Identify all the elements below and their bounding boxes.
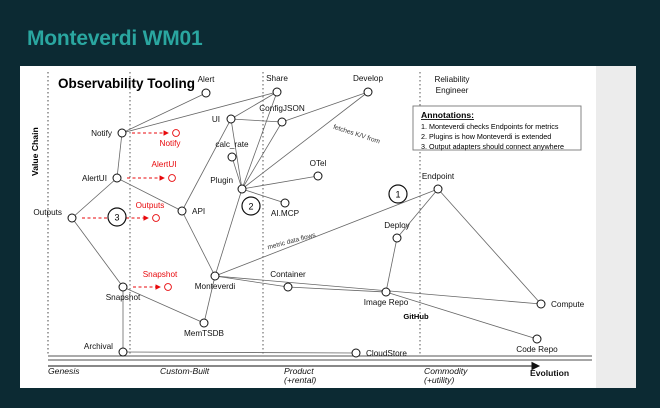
node-snapshot[interactable]: [119, 283, 127, 291]
annotation-item-1: 1. Monteverdi checks Endpoints for metri…: [421, 122, 559, 131]
link-label-0: fetches K/V from: [332, 124, 381, 146]
annotation-item-3: 3. Output adapters should connect anywhe…: [421, 142, 564, 151]
node-configjson[interactable]: [278, 118, 286, 126]
node-calc_rate[interactable]: [228, 153, 236, 161]
evolved-node-label-snapshot: Snapshot: [143, 270, 178, 279]
annotation-item-2: 2. Plugins is how Monteverdi is extended: [421, 132, 551, 141]
node-label-calc_rate: calc_rate: [215, 140, 249, 149]
node-label-deploy: Deploy: [384, 221, 410, 230]
anchor-label-line1: Reliability: [434, 75, 470, 84]
node-endpoint[interactable]: [434, 185, 442, 193]
node-memtsdb[interactable]: [200, 319, 208, 327]
node-label-api: API: [192, 207, 205, 216]
evolved-node-label-outputs: Outputs: [136, 201, 165, 210]
node-label-compute: Compute: [551, 300, 585, 309]
node-label-archival: Archival: [84, 342, 113, 351]
node-label-share: Share: [266, 74, 288, 83]
evolved-node-alertui[interactable]: [169, 175, 176, 182]
link-ui-api: [182, 119, 231, 211]
evolved-node-snapshot[interactable]: [165, 284, 172, 291]
link-share-notify: [122, 92, 277, 133]
link-archival-cloudstore: [123, 352, 356, 353]
node-monteverdi[interactable]: [211, 272, 219, 280]
stage-label-1: Custom-Built: [160, 366, 210, 376]
map-annotations-box: Annotations:1. Monteverdi checks Endpoin…: [413, 106, 581, 151]
node-label-endpoint: Endpoint: [422, 172, 455, 181]
node-archival[interactable]: [119, 348, 127, 356]
node-outputs[interactable]: [68, 214, 76, 222]
node-compute[interactable]: [537, 300, 545, 308]
node-label-alertui: AlertUI: [82, 174, 107, 183]
node-label-develop: Develop: [353, 74, 383, 83]
stage-sublabel-2: (+rental): [284, 375, 316, 385]
link-plugin-otel: [242, 176, 318, 189]
pipeline-label-github: GitHub: [403, 312, 429, 321]
evolution-axis-label: Evolution: [530, 368, 569, 378]
node-label-ui: UI: [212, 115, 220, 124]
stage-sublabel-3: (+utility): [424, 375, 454, 385]
annotation-marker-number-3: 3: [114, 212, 119, 222]
node-label-imagerepo: Image Repo: [364, 298, 409, 307]
link-api-monteverdi: [182, 211, 215, 276]
node-label-notify: Notify: [91, 129, 113, 138]
annotation-marker-number-2: 2: [248, 201, 253, 211]
link-deploy-imagerepo: [386, 238, 397, 292]
node-api[interactable]: [178, 207, 186, 215]
node-ui[interactable]: [227, 115, 235, 123]
node-label-otel: OTel: [310, 159, 327, 168]
link-endpoint-compute: [438, 189, 541, 304]
node-share[interactable]: [273, 88, 281, 96]
node-deploy[interactable]: [393, 234, 401, 242]
evolved-node-label-notify: Notify: [160, 139, 182, 148]
node-label-plugin: Plugin: [210, 176, 233, 185]
map-evolution-arrows: NotifyAlertUIOutputsSnapshot: [82, 130, 181, 291]
node-imagerepo[interactable]: [382, 288, 390, 296]
evolved-node-notify[interactable]: [173, 130, 180, 137]
link-configjson-plugin: [242, 122, 282, 189]
node-label-aimcp: AI.MCP: [271, 209, 300, 218]
node-label-monteverdi: Monteverdi: [195, 282, 236, 291]
node-alert[interactable]: [202, 89, 210, 97]
annotations-title: Annotations:: [421, 110, 474, 120]
wardley-map-canvas[interactable]: GenesisCustom-BuiltProduct(+rental)Commo…: [20, 66, 636, 388]
node-cloudstore[interactable]: [352, 349, 360, 357]
stage-label-0: Genesis: [48, 366, 80, 376]
link-plugin-monteverdi: [215, 189, 242, 276]
node-label-container: Container: [270, 270, 306, 279]
link-outputs-snapshot: [72, 218, 123, 287]
node-alertui[interactable]: [113, 174, 121, 182]
node-notify[interactable]: [118, 129, 126, 137]
node-aimcp[interactable]: [281, 199, 289, 207]
node-otel[interactable]: [314, 172, 322, 180]
node-container[interactable]: [284, 283, 292, 291]
node-coderepo[interactable]: [533, 335, 541, 343]
node-label-configjson: ConfigJSON: [259, 104, 305, 113]
node-label-snapshot: Snapshot: [106, 293, 141, 302]
link-label-1: metric data flows: [267, 232, 317, 252]
link-alert-notify: [122, 93, 206, 133]
value-chain-axis-label: Value Chain: [30, 127, 40, 176]
wardley-map-card[interactable]: GenesisCustom-BuiltProduct(+rental)Commo…: [20, 66, 636, 388]
node-label-cloudstore: CloudStore: [366, 349, 407, 358]
node-label-coderepo: Code Repo: [516, 345, 558, 354]
node-plugin[interactable]: [238, 185, 246, 193]
node-label-memtsdb: MemTSDB: [184, 329, 225, 338]
anchor-label-line2: Engineer: [436, 86, 469, 95]
node-label-outputs: Outputs: [33, 208, 62, 217]
page-title: Monteverdi WM01: [27, 27, 203, 51]
evolved-node-label-alertui: AlertUI: [151, 160, 176, 169]
link-notify-alertui: [117, 133, 122, 178]
screenshot-root: Monteverdi WM01 GenesisCustom-BuiltProdu…: [0, 0, 660, 408]
node-develop[interactable]: [364, 88, 372, 96]
map-link-labels: fetches K/V frommetric data flows: [267, 124, 381, 252]
link-ui-configjson: [231, 119, 282, 122]
annotation-marker-number-1: 1: [395, 189, 400, 199]
node-label-alert: Alert: [198, 75, 216, 84]
link-calc_rate-plugin: [232, 157, 242, 189]
evolved-node-outputs[interactable]: [153, 215, 160, 222]
map-title: Observability Tooling: [58, 76, 195, 91]
